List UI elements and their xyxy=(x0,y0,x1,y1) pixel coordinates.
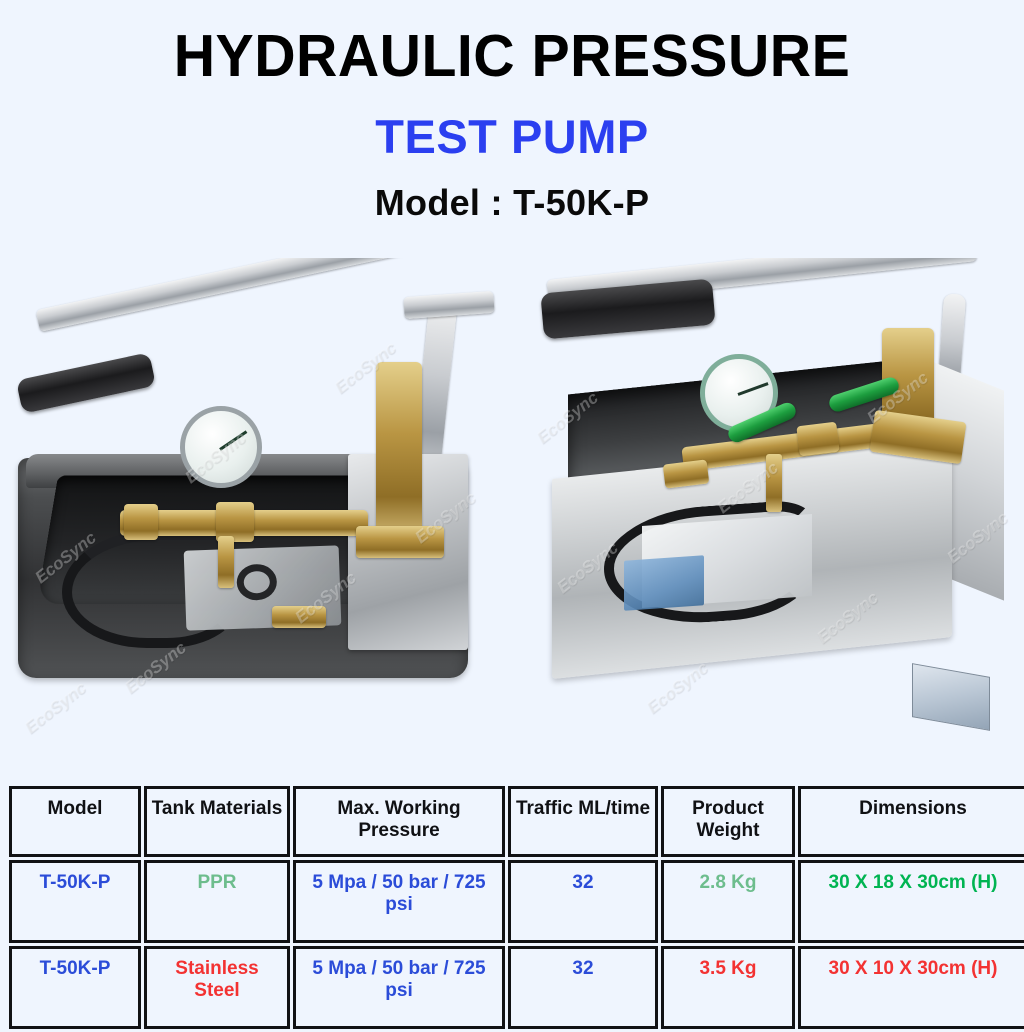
pump-manifold-fitting-left xyxy=(124,504,158,540)
cell-traffic: 32 xyxy=(508,946,658,1029)
column-header-max-working-pressure: Max. Working Pressure xyxy=(293,786,505,857)
pump-handle-grip xyxy=(16,352,156,414)
pump-manifold-drop-tube xyxy=(218,536,234,588)
page-title: HYDRAULIC PRESSURE xyxy=(15,26,1008,86)
cell-traffic: 32 xyxy=(508,860,658,943)
model-designation: Model : T-50K-P xyxy=(0,184,1024,222)
column-header-dimensions: Dimensions xyxy=(798,786,1024,857)
page-header: HYDRAULIC PRESSURE TEST PUMP Model : T-5… xyxy=(0,0,1024,221)
table-header-row: Model Tank Materials Max. Working Pressu… xyxy=(9,786,1024,857)
product-photo-stainless: EcoSync EcoSync EcoSync EcoSync EcoSync … xyxy=(512,258,1024,770)
pump-accessory-pouch xyxy=(624,555,704,611)
cell-tank-material: Stainless Steel xyxy=(144,946,290,1029)
cell-product-weight: 2.8 Kg xyxy=(661,860,795,943)
pump-lever-arm xyxy=(36,258,432,332)
product-photo-gallery: T-50K-P TEST PUMP EcoSync EcoSync EcoSyn… xyxy=(0,258,1024,770)
pump-outlet-elbow xyxy=(356,526,444,558)
cell-dimensions: 30 X 18 X 30cm (H) xyxy=(798,860,1024,943)
cell-model: T-50K-P xyxy=(9,860,141,943)
column-header-product-weight: Product Weight xyxy=(661,786,795,857)
table-row: T-50K-P PPR 5 Mpa / 50 bar / 725 psi 32 … xyxy=(9,860,1024,943)
column-header-tank-materials: Tank Materials xyxy=(144,786,290,857)
cell-dimensions: 30 X 10 X 30cm (H) xyxy=(798,946,1024,1029)
cell-model: T-50K-P xyxy=(9,946,141,1029)
cell-product-weight: 3.5 Kg xyxy=(661,946,795,1029)
pump-nameplate xyxy=(912,663,990,731)
cell-max-working-pressure: 5 Mpa / 50 bar / 725 psi xyxy=(293,860,505,943)
pump-lever-pivot-plate xyxy=(403,291,494,319)
column-header-model: Model xyxy=(9,786,141,857)
product-photo-ppr: T-50K-P TEST PUMP EcoSync EcoSync EcoSyn… xyxy=(0,258,512,770)
pump-manifold-fitting-mid xyxy=(796,422,839,457)
specification-table: Model Tank Materials Max. Working Pressu… xyxy=(6,783,1024,1032)
pump-outlet-port xyxy=(272,606,326,628)
page-subtitle: TEST PUMP xyxy=(0,112,1024,161)
cell-tank-material: PPR xyxy=(144,860,290,943)
cell-max-working-pressure: 5 Mpa / 50 bar / 725 psi xyxy=(293,946,505,1029)
pump-cylinder xyxy=(376,362,422,542)
watermark-text: EcoSync xyxy=(21,678,90,738)
table-row: T-50K-P Stainless Steel 5 Mpa / 50 bar /… xyxy=(9,946,1024,1029)
column-header-traffic: Traffic ML/time xyxy=(508,786,658,857)
pump-manifold-drop-tube xyxy=(766,454,782,512)
